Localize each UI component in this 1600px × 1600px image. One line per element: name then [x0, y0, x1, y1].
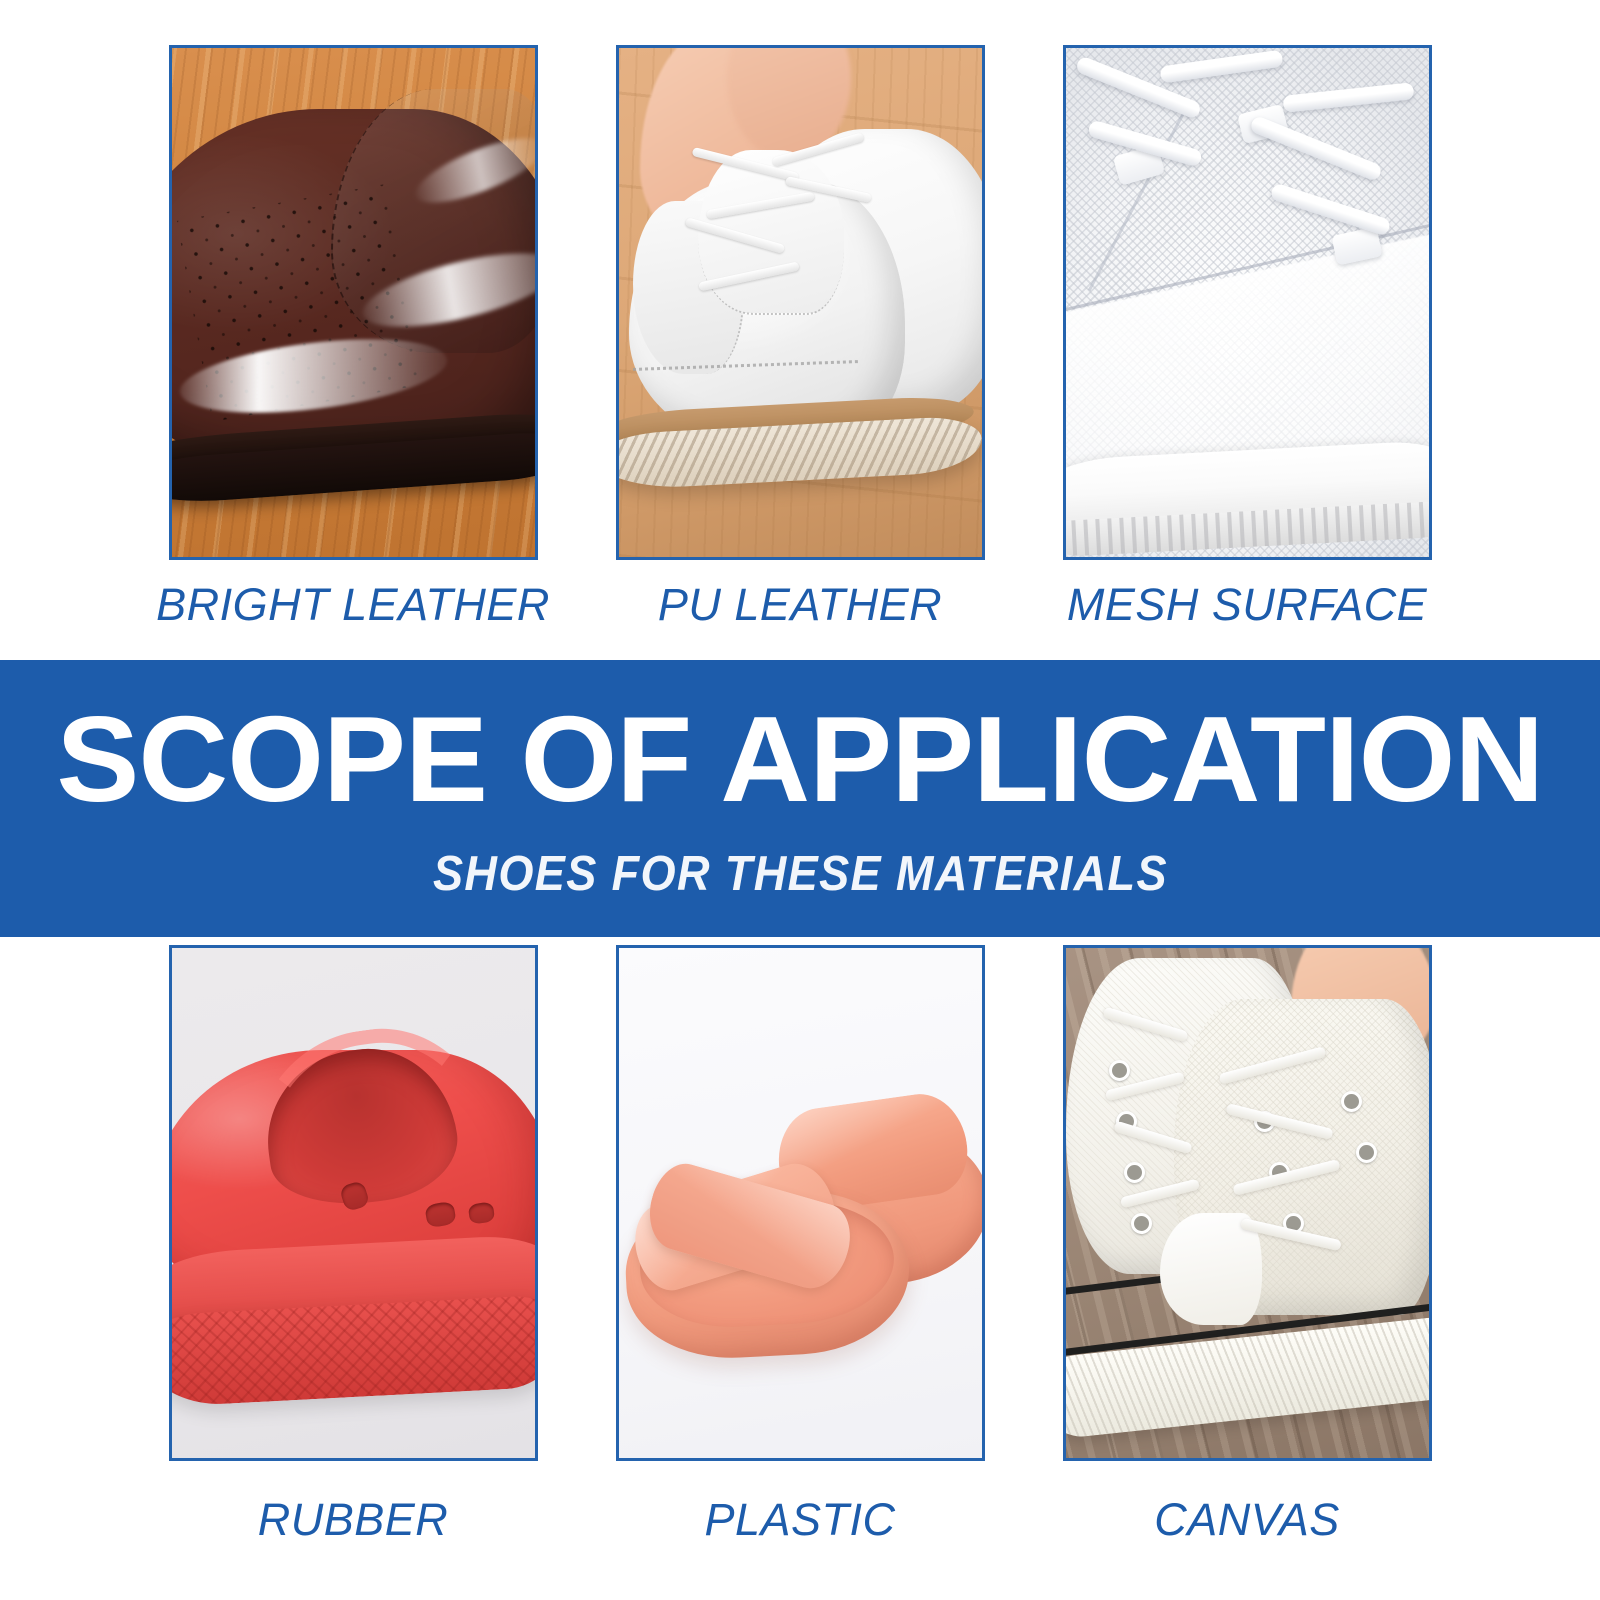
image-frame-canvas[interactable] — [1063, 945, 1432, 1461]
tile-label-rubber: RUBBER — [258, 1497, 449, 1542]
tile-label-canvas: CANVAS — [1154, 1497, 1340, 1542]
white-knit-mesh-sneaker-photo — [1066, 48, 1429, 557]
image-frame-pu-leather[interactable] — [616, 45, 985, 560]
white-canvas-sneakers-photo — [1066, 948, 1429, 1458]
tile-mesh-surface[interactable]: MESH SURFACE — [1063, 45, 1432, 627]
brown-glossy-leather-dress-shoe-photo — [172, 48, 535, 557]
tile-bright-leather[interactable]: BRIGHT LEATHER — [169, 45, 538, 627]
white-pu-leather-oxford-shoes-photo — [619, 48, 982, 557]
red-rubber-clog-shoe-photo — [172, 948, 535, 1458]
image-frame-bright-leather[interactable] — [169, 45, 538, 560]
tile-plastic[interactable]: PLASTIC — [616, 945, 985, 1542]
coral-plastic-cross-strap-slides-photo — [619, 948, 982, 1458]
top-image-row: BRIGHT LEATHER PU — [0, 0, 1600, 627]
image-frame-plastic[interactable] — [616, 945, 985, 1461]
image-frame-mesh-surface[interactable] — [1063, 45, 1432, 560]
tile-label-pu-leather: PU LEATHER — [658, 582, 942, 627]
banner-subtitle: SHOES FOR THESE MATERIALS — [433, 850, 1168, 899]
banner-title: SCOPE OF APPLICATION — [57, 698, 1544, 820]
tile-pu-leather[interactable]: PU LEATHER — [616, 45, 985, 627]
image-frame-rubber[interactable] — [169, 945, 538, 1461]
tile-label-plastic: PLASTIC — [704, 1497, 895, 1542]
tile-label-bright-leather: BRIGHT LEATHER — [156, 582, 550, 627]
tile-label-mesh-surface: MESH SURFACE — [1067, 582, 1427, 627]
bottom-image-row: RUBBER PLASTIC — [0, 904, 1600, 1542]
scope-of-application-banner: SCOPE OF APPLICATION SHOES FOR THESE MAT… — [0, 660, 1600, 937]
tile-canvas[interactable]: CANVAS — [1063, 945, 1432, 1542]
tile-rubber[interactable]: RUBBER — [169, 945, 538, 1542]
